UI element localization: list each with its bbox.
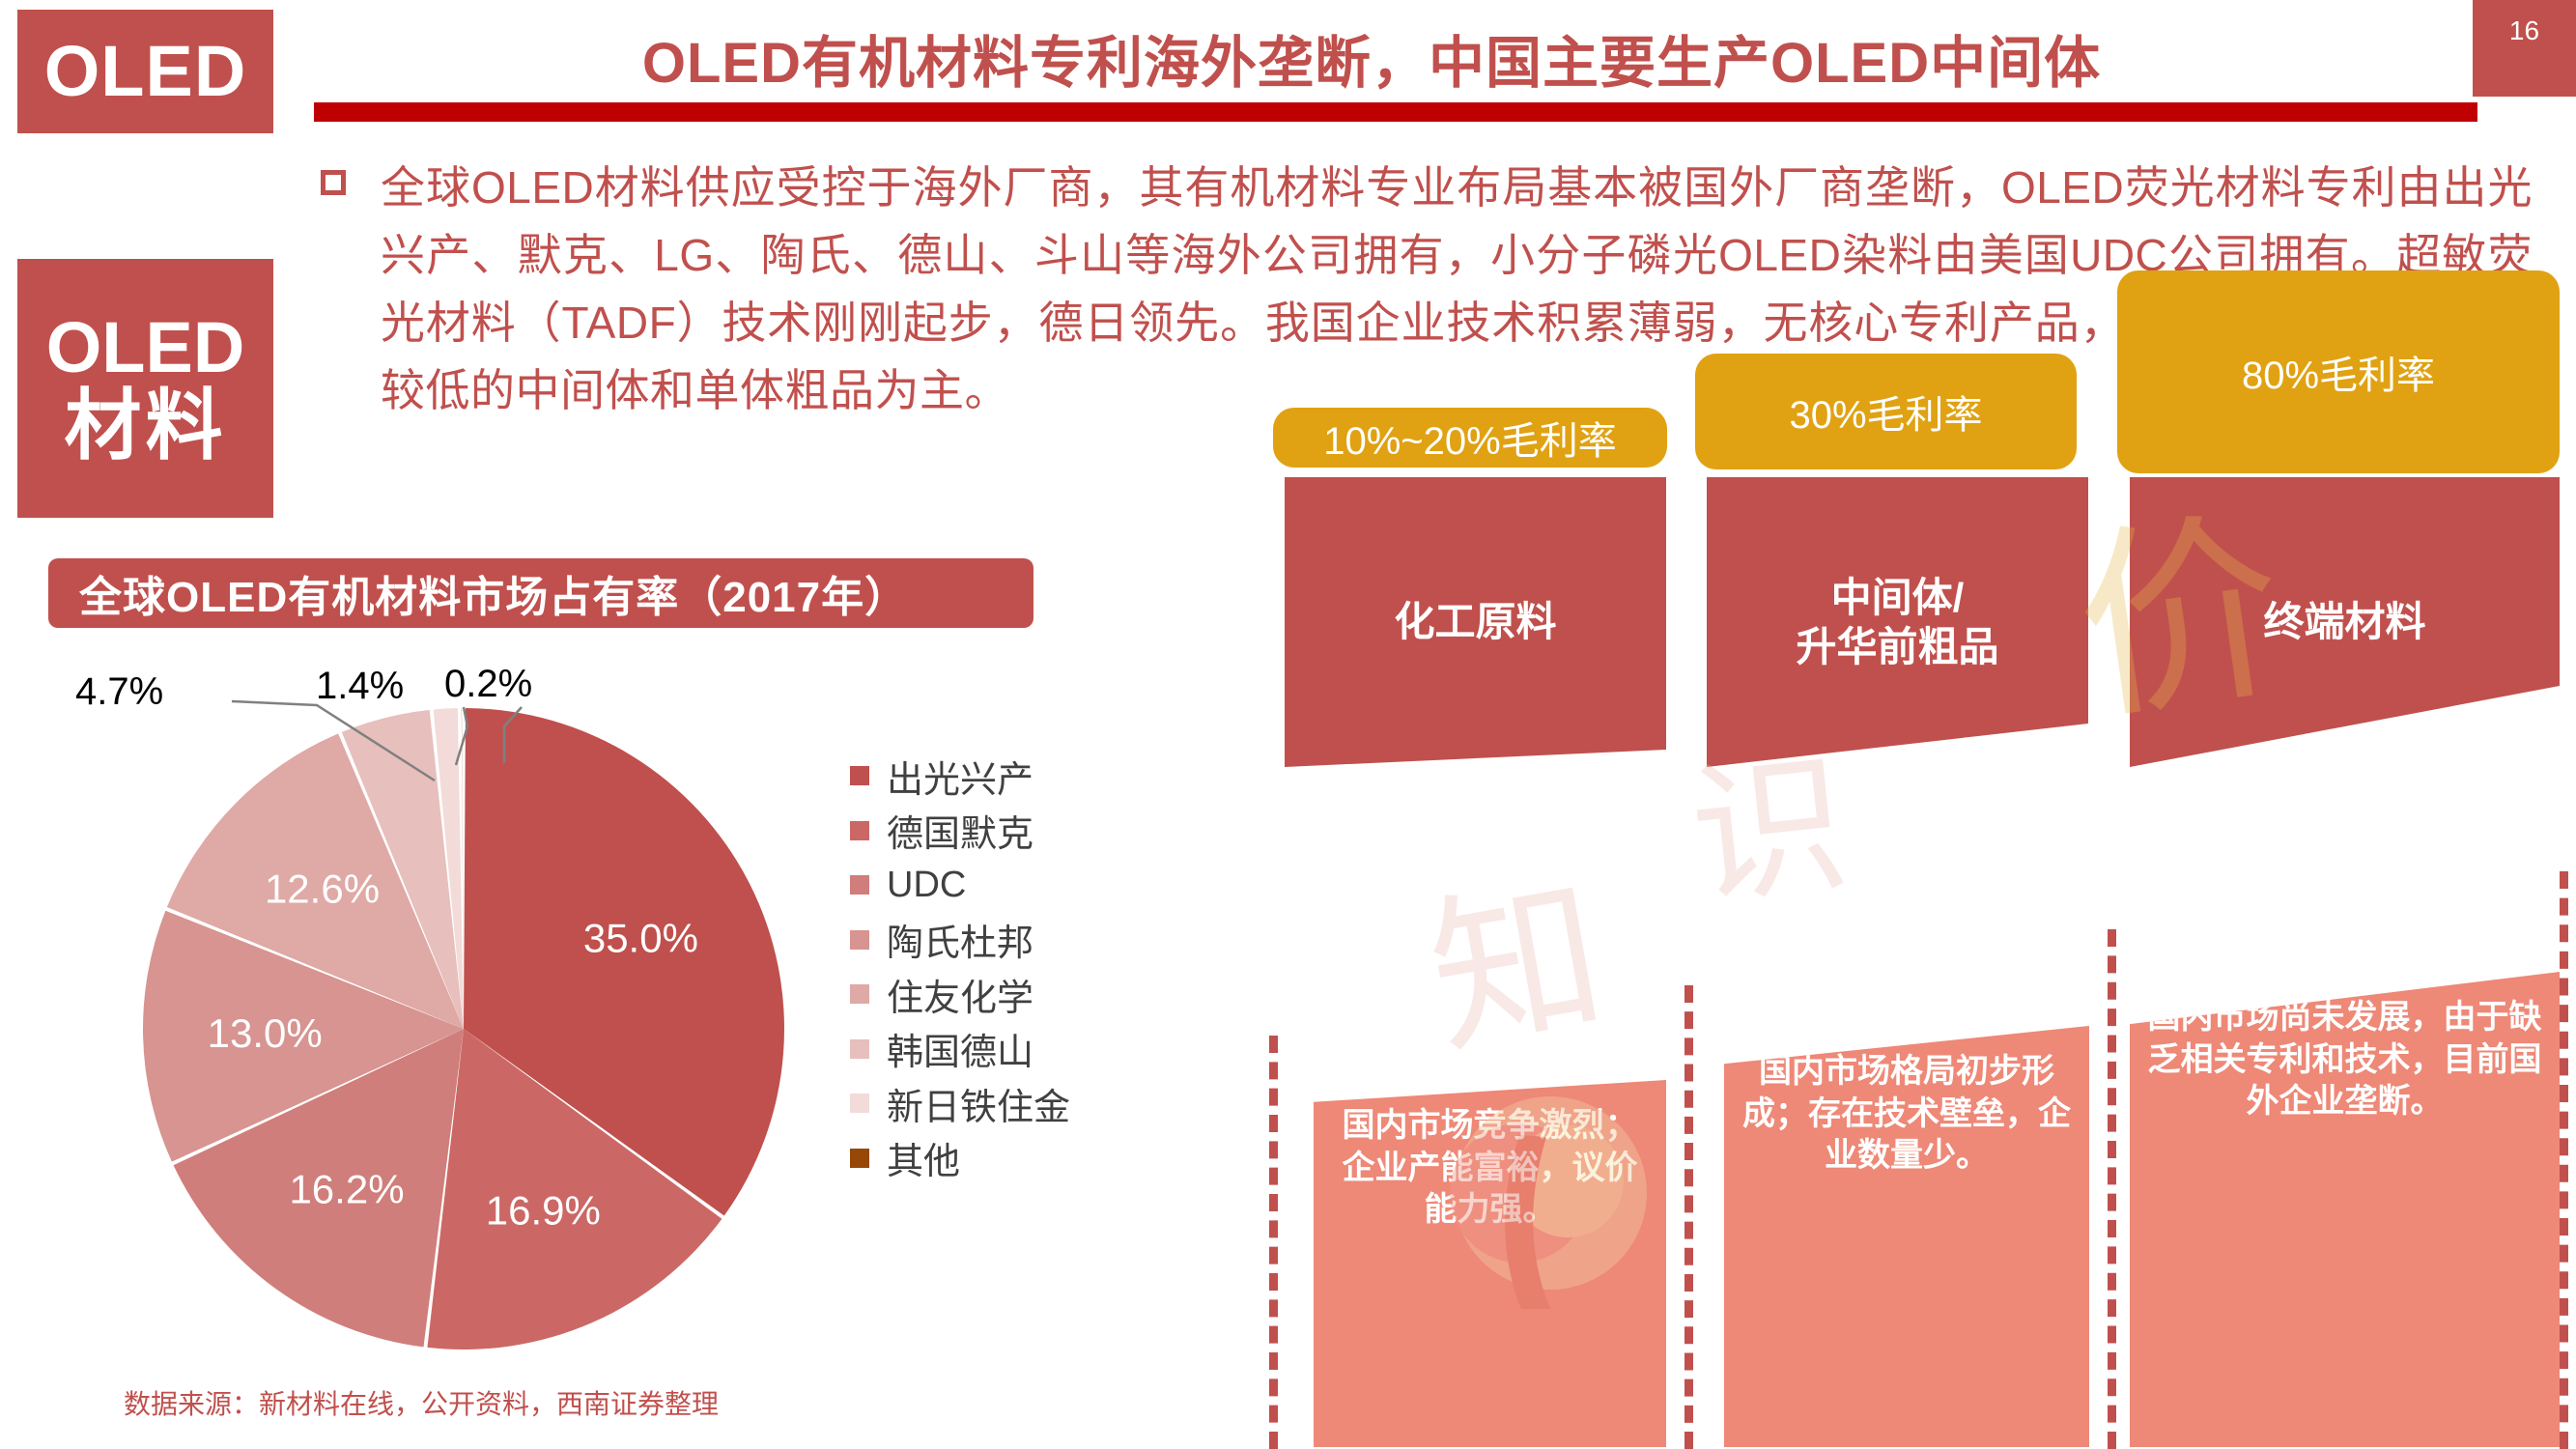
chain-description-2: 国内市场尚未发展，由于缺乏相关专利和技术，目前国外企业垄断。 [2130,972,2560,1447]
legend-item[interactable]: 韩国德山 [850,1022,1169,1077]
legend-item-label: 其他 [887,1131,960,1184]
pie-slice-label: 16.2% [289,1167,404,1212]
chain-divider-0 [1269,1036,1278,1449]
chain-divider-2 [2108,929,2116,1449]
chain-category-1-line2: 升华前粗品 [1796,622,1998,671]
legend-item[interactable]: 德国默克 [850,804,1169,859]
sidebar-tab-oled[interactable]: OLED [17,10,273,133]
legend-item[interactable]: 出光兴产 [850,749,1169,804]
margin-badge-1: 30%毛利率 [1695,354,2077,469]
legend-item-label: 住友化学 [887,968,1033,1021]
margin-badge-2: 80%毛利率 [2117,270,2560,473]
chain-divider-1 [1684,985,1693,1449]
legend-item-label: 韩国德山 [887,1022,1033,1075]
chain-category-2: 终端材料 [2130,477,2560,767]
legend-item[interactable]: 陶氏杜邦 [850,913,1169,968]
chain-divider-3 [2560,871,2568,1449]
chart-title-label: 全球OLED有机材料市场占有率（2017年） [79,562,908,624]
legend-item[interactable]: 其他 [850,1131,1169,1186]
page-title: OLED有机材料专利海外垄断，中国主要生产OLED中间体 [319,17,2424,99]
pie-slice-label: 35.0% [583,916,698,961]
sidebar-tab-material-line2: 材料 [65,386,227,466]
page-number-value: 16 [2509,15,2539,46]
legend-item-label: UDC [887,865,966,906]
value-chain-diagram: 10%~20%毛利率 30%毛利率 80%毛利率 化工原料 中间体/ 升华前粗品… [1285,435,2560,1449]
pie-slice-label: 16.9% [486,1188,601,1234]
legend-item-label: 出光兴产 [887,750,1033,803]
legend-item-label: 德国默克 [887,804,1033,857]
chain-category-1-line1: 中间体/ [1796,573,1998,622]
chain-category-1: 中间体/ 升华前粗品 [1707,477,2088,767]
data-source-note: 数据来源：新材料在线，公开资料，西南证券整理 [124,1383,719,1422]
legend-item[interactable]: 住友化学 [850,967,1169,1022]
legend-swatch-icon [850,930,869,950]
pie-chart-svg: 35.0%16.9%16.2%13.0%12.6% [58,667,869,1372]
page-number-badge: 16 [2473,0,2576,97]
pie-chart: 35.0%16.9%16.2%13.0%12.6% 4.7% 1.4% 0.2% [58,667,869,1372]
legend-swatch-icon [850,1094,869,1113]
pie-outside-label-2: 0.2% [444,663,532,706]
title-divider [314,102,2477,122]
chain-category-0: 化工原料 [1285,477,1666,767]
sidebar-tab-oled-material[interactable]: OLED 材料 [17,259,273,518]
sidebar-tab-oled-label: OLED [44,35,247,107]
chain-description-1: 国内市场格局初步形成；存在技术壁垒，企业数量少。 [1724,1026,2089,1447]
chain-description-0: 国内市场竞争激烈；企业产能富裕，议价能力强。 [1314,1080,1666,1447]
legend-item[interactable]: 新日铁住金 [850,1076,1169,1131]
legend-swatch-icon [850,1039,869,1059]
margin-badge-0: 10%~20%毛利率 [1273,408,1667,468]
pie-slice-label: 13.0% [208,1010,323,1056]
legend-swatch-icon [850,766,869,785]
legend-item[interactable]: UDC [850,858,1169,913]
legend-swatch-icon [850,821,869,840]
sidebar-tab-material-line1: OLED [46,311,245,384]
pie-slice-label: 12.6% [265,866,380,911]
chart-title: 全球OLED有机材料市场占有率（2017年） [48,558,1033,628]
pie-outside-label-0: 4.7% [75,670,163,714]
pie-chart-legend: 出光兴产德国默克UDC陶氏杜邦住友化学韩国德山新日铁住金其他 [850,749,1169,1185]
legend-item-label: 陶氏杜邦 [887,913,1033,966]
legend-swatch-icon [850,984,869,1004]
legend-swatch-icon [850,875,869,895]
legend-swatch-icon [850,1149,869,1168]
square-bullet-icon [321,170,346,195]
pie-outside-label-1: 1.4% [316,665,404,708]
legend-item-label: 新日铁住金 [887,1077,1070,1130]
